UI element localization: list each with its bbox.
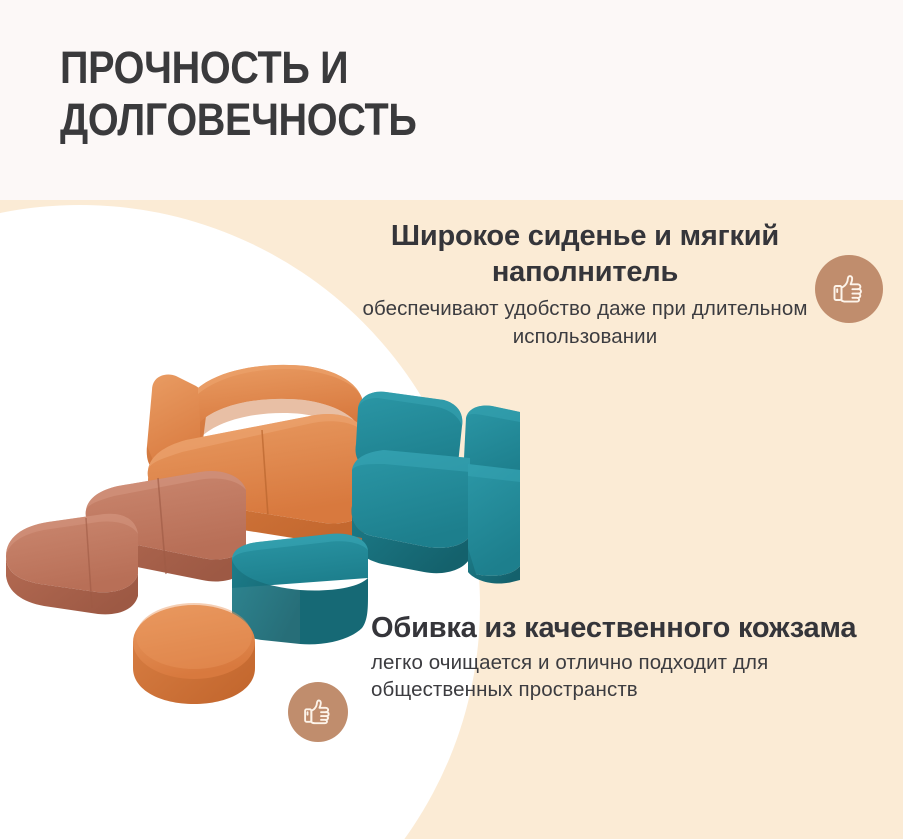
- module-cube-ottoman-teal: [232, 534, 368, 645]
- thumbs-up-badge-leatherette: [288, 682, 348, 742]
- module-seat-teal-2: [468, 464, 520, 584]
- feature-body: обеспечивают удобство даже при длительно…: [352, 295, 818, 351]
- module-round-pouf-orange: [133, 603, 255, 704]
- feature-block-wide-seat: Широкое сиденье и мягкий наполнитель обе…: [352, 218, 818, 351]
- thumbs-up-icon: [302, 696, 334, 728]
- feature-heading: Широкое сиденье и мягкий наполнитель: [352, 218, 818, 290]
- page-title: ПРОЧНОСТЬ И ДОЛГОВЕЧНОСТЬ: [60, 42, 729, 146]
- feature-block-leatherette: Обивка из качественного кожзама легко оч…: [371, 610, 881, 703]
- promo-poster: ПРОЧНОСТЬ И ДОЛГОВЕЧНОСТЬ: [0, 0, 903, 839]
- feature-body: легко очищается и отлично подходит для о…: [371, 649, 881, 703]
- thumbs-up-badge-wide-seat: [815, 255, 883, 323]
- feature-heading: Обивка из качественного кожзама: [371, 610, 881, 646]
- module-seat-teal-1: [352, 450, 470, 573]
- module-wedge-terracotta: [6, 514, 138, 615]
- thumbs-up-icon: [831, 271, 867, 307]
